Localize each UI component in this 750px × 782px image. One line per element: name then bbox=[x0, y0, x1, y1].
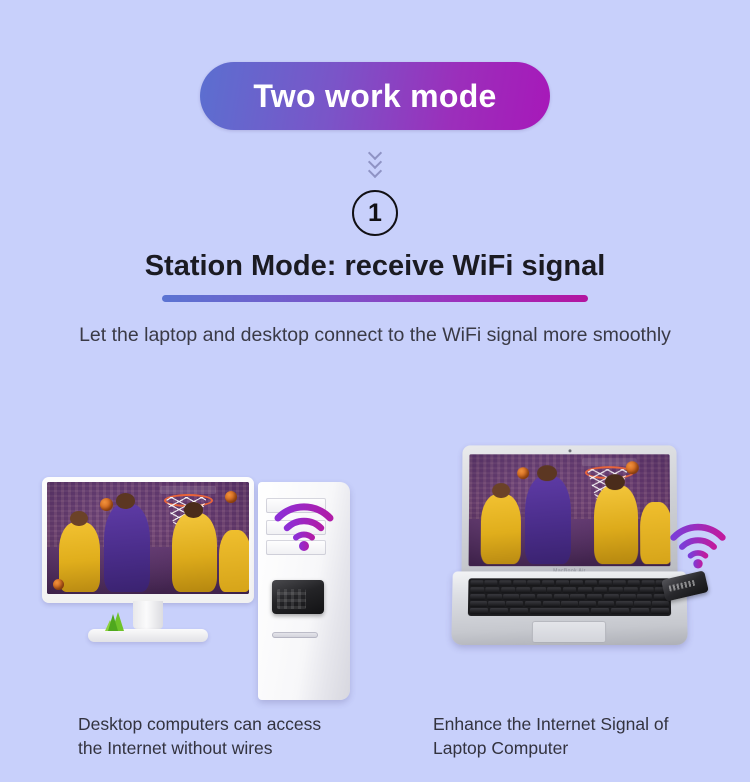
section-heading: Station Mode: receive WiFi signal bbox=[0, 250, 750, 283]
monitor-base bbox=[88, 629, 208, 642]
step-number: 1 bbox=[368, 201, 382, 226]
webcam-icon bbox=[568, 449, 571, 452]
laptop-keyboard[interactable] bbox=[468, 578, 671, 616]
key[interactable] bbox=[513, 580, 526, 586]
adapter-grill bbox=[277, 589, 306, 609]
player-figure bbox=[172, 513, 216, 591]
key[interactable] bbox=[487, 594, 502, 600]
key[interactable] bbox=[543, 601, 560, 607]
player-figure bbox=[481, 494, 522, 564]
key[interactable] bbox=[490, 608, 509, 614]
keyboard-row bbox=[470, 580, 668, 586]
key[interactable] bbox=[470, 608, 489, 614]
adapter-label bbox=[669, 580, 696, 592]
key[interactable] bbox=[537, 594, 552, 600]
caption-laptop-line1: Enhance the Internet Signal of bbox=[433, 712, 750, 736]
spacebar-key[interactable] bbox=[530, 608, 589, 614]
usb-wifi-adapter bbox=[272, 580, 324, 614]
key[interactable] bbox=[561, 601, 578, 607]
caption-desktop-line1: Desktop computers can access bbox=[78, 712, 375, 736]
player-figure bbox=[594, 485, 639, 563]
key[interactable] bbox=[578, 587, 592, 593]
key[interactable] bbox=[598, 601, 615, 607]
key[interactable] bbox=[554, 594, 569, 600]
key[interactable] bbox=[579, 601, 596, 607]
keyboard-row bbox=[470, 601, 669, 607]
key[interactable] bbox=[620, 594, 635, 600]
plant-leaf bbox=[108, 614, 118, 631]
key[interactable] bbox=[547, 587, 561, 593]
player-figure bbox=[219, 530, 249, 592]
backboard bbox=[160, 486, 216, 494]
key[interactable] bbox=[631, 608, 650, 614]
title-section: Two work mode bbox=[0, 0, 750, 130]
key[interactable] bbox=[563, 587, 577, 593]
player-figure bbox=[104, 504, 150, 591]
keyboard-row bbox=[470, 594, 669, 600]
keyboard-row bbox=[470, 608, 669, 614]
key[interactable] bbox=[504, 594, 519, 600]
key[interactable] bbox=[516, 587, 530, 593]
gradient-divider bbox=[162, 295, 588, 302]
key[interactable] bbox=[506, 601, 523, 607]
monitor-screen bbox=[47, 482, 249, 594]
keyboard-row bbox=[470, 587, 668, 593]
laptop-computer: MacBook Air bbox=[452, 445, 687, 645]
key[interactable] bbox=[542, 580, 555, 586]
player-figure bbox=[59, 522, 99, 591]
page-title: Two work mode bbox=[253, 78, 496, 115]
key[interactable] bbox=[470, 587, 484, 593]
key[interactable] bbox=[510, 608, 528, 614]
desk-plant-decoration bbox=[104, 612, 126, 631]
key[interactable] bbox=[604, 594, 619, 600]
laptop-lid: MacBook Air bbox=[461, 445, 677, 576]
basketball-wallpaper bbox=[47, 482, 249, 594]
key[interactable] bbox=[520, 594, 535, 600]
key[interactable] bbox=[611, 608, 629, 614]
monitor-neck bbox=[133, 601, 163, 629]
step-number-badge: 1 bbox=[352, 190, 398, 236]
basketball-wallpaper bbox=[469, 454, 671, 566]
laptop-screen bbox=[469, 454, 671, 566]
key[interactable] bbox=[609, 587, 623, 593]
product-scene: MacBook Air bbox=[0, 420, 750, 710]
key[interactable] bbox=[599, 580, 612, 586]
caption-desktop-line2: the Internet without wires bbox=[78, 736, 375, 760]
caption-desktop: Desktop computers can access the Interne… bbox=[0, 712, 375, 760]
wifi-signal-icon bbox=[668, 520, 728, 570]
desktop-monitor bbox=[42, 477, 254, 642]
player-figure bbox=[525, 477, 571, 564]
key[interactable] bbox=[470, 594, 485, 600]
key[interactable] bbox=[593, 587, 607, 593]
caption-row: Desktop computers can access the Interne… bbox=[0, 712, 750, 760]
wifi-signal-icon bbox=[272, 500, 336, 552]
key[interactable] bbox=[525, 601, 542, 607]
caption-laptop-line2: Laptop Computer bbox=[433, 736, 750, 760]
key[interactable] bbox=[486, 587, 500, 593]
key[interactable] bbox=[470, 580, 483, 586]
key[interactable] bbox=[556, 580, 569, 586]
key[interactable] bbox=[613, 580, 626, 586]
key[interactable] bbox=[570, 594, 585, 600]
player-figure bbox=[640, 502, 671, 564]
chevron-group bbox=[0, 148, 750, 174]
basketball bbox=[626, 461, 639, 474]
key[interactable] bbox=[499, 580, 512, 586]
title-pill-badge: Two work mode bbox=[200, 62, 550, 130]
monitor-bezel bbox=[42, 477, 254, 603]
basketball bbox=[225, 491, 237, 503]
key[interactable] bbox=[652, 601, 669, 607]
key[interactable] bbox=[651, 608, 670, 614]
laptop-trackpad[interactable] bbox=[532, 621, 606, 643]
key[interactable] bbox=[616, 601, 633, 607]
basketball bbox=[100, 498, 113, 511]
key[interactable] bbox=[570, 580, 583, 586]
caption-laptop: Enhance the Internet Signal of Laptop Co… bbox=[375, 712, 750, 760]
key[interactable] bbox=[627, 580, 640, 586]
laptop-base bbox=[451, 571, 688, 645]
key[interactable] bbox=[585, 580, 598, 586]
gradient-rule-wrap bbox=[0, 295, 750, 302]
chevron-down-icon bbox=[368, 166, 382, 174]
step-badge-wrap: 1 bbox=[0, 190, 750, 236]
key[interactable] bbox=[634, 601, 651, 607]
basketball bbox=[53, 579, 64, 590]
key[interactable] bbox=[488, 601, 505, 607]
key[interactable] bbox=[527, 580, 540, 586]
key[interactable] bbox=[591, 608, 609, 614]
key[interactable] bbox=[587, 594, 602, 600]
key[interactable] bbox=[624, 587, 638, 593]
key[interactable] bbox=[637, 594, 652, 600]
section-subtitle: Let the laptop and desktop connect to th… bbox=[0, 324, 750, 347]
key[interactable] bbox=[642, 580, 655, 586]
key[interactable] bbox=[485, 580, 498, 586]
key[interactable] bbox=[640, 587, 654, 593]
key[interactable] bbox=[470, 601, 487, 607]
key[interactable] bbox=[501, 587, 515, 593]
front-port-panel bbox=[272, 632, 318, 638]
key[interactable] bbox=[532, 587, 546, 593]
